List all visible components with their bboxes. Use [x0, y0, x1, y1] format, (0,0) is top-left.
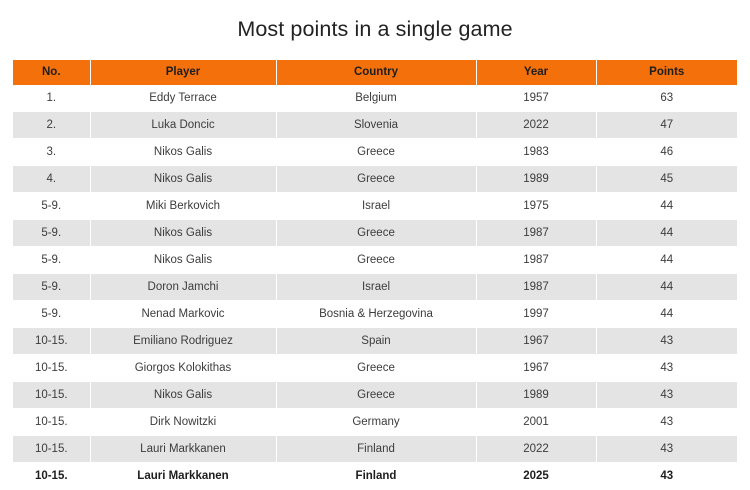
table-cell-country: Greece [276, 166, 476, 193]
table-cell-year: 1967 [476, 355, 596, 382]
table-cell-year: 2001 [476, 409, 596, 436]
table-row: 10-15.Lauri MarkkanenFinland202243 [13, 436, 737, 463]
table-cell-points: 43 [596, 382, 737, 409]
table-cell-points: 44 [596, 247, 737, 274]
table-cell-player: Emiliano Rodriguez [90, 328, 276, 355]
table-cell-year: 2022 [476, 436, 596, 463]
table-row: 4.Nikos GalisGreece198945 [13, 166, 737, 193]
column-header-year[interactable]: Year [476, 60, 596, 85]
table-cell-no: 10-15. [13, 409, 90, 436]
table-cell-country: Spain [276, 328, 476, 355]
table-cell-no: 10-15. [13, 382, 90, 409]
table-row: 5-9.Doron JamchiIsrael198744 [13, 274, 737, 301]
table-cell-player: Nikos Galis [90, 220, 276, 247]
table-cell-country: Germany [276, 409, 476, 436]
column-header-country[interactable]: Country [276, 60, 476, 85]
table-cell-player: Doron Jamchi [90, 274, 276, 301]
table-cell-no: 10-15. [13, 328, 90, 355]
column-header-no[interactable]: No. [13, 60, 90, 85]
table-cell-points: 43 [596, 409, 737, 436]
table-cell-no: 5-9. [13, 301, 90, 328]
table-header: No. Player Country Year Points [13, 60, 737, 85]
table-cell-year: 1967 [476, 328, 596, 355]
table-cell-points: 45 [596, 166, 737, 193]
table-cell-no: 5-9. [13, 220, 90, 247]
table-cell-country: Israel [276, 193, 476, 220]
table-cell-no: 1. [13, 85, 90, 112]
table-cell-year: 2025 [476, 463, 596, 490]
table-cell-year: 1989 [476, 166, 596, 193]
ranking-table: No. Player Country Year Points 1.Eddy Te… [13, 60, 737, 490]
table-row: 5-9.Nikos GalisGreece198744 [13, 220, 737, 247]
table-cell-year: 2022 [476, 112, 596, 139]
table-row: 5-9.Nenad MarkovicBosnia & Herzegovina19… [13, 301, 737, 328]
table-cell-no: 3. [13, 139, 90, 166]
table-cell-player: Nikos Galis [90, 139, 276, 166]
table-cell-points: 63 [596, 85, 737, 112]
table-cell-country: Greece [276, 382, 476, 409]
table-cell-year: 1989 [476, 382, 596, 409]
table-cell-country: Belgium [276, 85, 476, 112]
table-cell-player: Nikos Galis [90, 166, 276, 193]
table-cell-points: 44 [596, 274, 737, 301]
column-header-player[interactable]: Player [90, 60, 276, 85]
table-row: 5-9.Miki BerkovichIsrael197544 [13, 193, 737, 220]
table-cell-country: Finland [276, 436, 476, 463]
table-cell-no: 10-15. [13, 436, 90, 463]
table-cell-player: Eddy Terrace [90, 85, 276, 112]
table-cell-year: 1987 [476, 247, 596, 274]
table-row: 5-9.Nikos GalisGreece198744 [13, 247, 737, 274]
page-title: Most points in a single game [0, 0, 750, 44]
table-cell-player: Nikos Galis [90, 382, 276, 409]
table-cell-points: 43 [596, 328, 737, 355]
table-cell-player: Giorgos Kolokithas [90, 355, 276, 382]
table-row: 1.Eddy TerraceBelgium195763 [13, 85, 737, 112]
table-cell-country: Greece [276, 355, 476, 382]
table-row: 10-15.Lauri MarkkanenFinland202543 [13, 463, 737, 490]
table-row: 10-15.Emiliano RodriguezSpain196743 [13, 328, 737, 355]
table-cell-points: 44 [596, 220, 737, 247]
table-row: 2.Luka DoncicSlovenia202247 [13, 112, 737, 139]
ranking-table-container: No. Player Country Year Points 1.Eddy Te… [13, 60, 737, 490]
table-cell-no: 2. [13, 112, 90, 139]
table-cell-country: Finland [276, 463, 476, 490]
table-cell-player: Lauri Markkanen [90, 463, 276, 490]
table-cell-year: 1957 [476, 85, 596, 112]
table-cell-year: 1975 [476, 193, 596, 220]
table-cell-country: Greece [276, 220, 476, 247]
table-cell-no: 10-15. [13, 355, 90, 382]
table-cell-points: 44 [596, 301, 737, 328]
table-cell-player: Nenad Markovic [90, 301, 276, 328]
table-row: 10-15.Dirk NowitzkiGermany200143 [13, 409, 737, 436]
table-body: 1.Eddy TerraceBelgium1957632.Luka Doncic… [13, 85, 737, 490]
table-cell-country: Slovenia [276, 112, 476, 139]
page-root: Most points in a single game No. Player … [0, 0, 750, 484]
table-cell-year: 1997 [476, 301, 596, 328]
table-cell-points: 47 [596, 112, 737, 139]
table-cell-country: Greece [276, 139, 476, 166]
table-header-row: No. Player Country Year Points [13, 60, 737, 85]
table-cell-year: 1983 [476, 139, 596, 166]
table-cell-points: 43 [596, 463, 737, 490]
table-cell-player: Nikos Galis [90, 247, 276, 274]
table-cell-no: 10-15. [13, 463, 90, 490]
table-cell-points: 46 [596, 139, 737, 166]
table-cell-player: Miki Berkovich [90, 193, 276, 220]
table-cell-player: Lauri Markkanen [90, 436, 276, 463]
table-cell-points: 44 [596, 193, 737, 220]
table-cell-player: Luka Doncic [90, 112, 276, 139]
table-row: 10-15.Nikos GalisGreece198943 [13, 382, 737, 409]
table-cell-points: 43 [596, 436, 737, 463]
table-row: 10-15.Giorgos KolokithasGreece196743 [13, 355, 737, 382]
table-cell-country: Bosnia & Herzegovina [276, 301, 476, 328]
table-row: 3.Nikos GalisGreece198346 [13, 139, 737, 166]
table-cell-year: 1987 [476, 220, 596, 247]
table-cell-no: 5-9. [13, 247, 90, 274]
table-cell-no: 5-9. [13, 193, 90, 220]
table-cell-player: Dirk Nowitzki [90, 409, 276, 436]
table-cell-country: Israel [276, 274, 476, 301]
table-cell-points: 43 [596, 355, 737, 382]
table-cell-year: 1987 [476, 274, 596, 301]
column-header-points[interactable]: Points [596, 60, 737, 85]
table-cell-no: 5-9. [13, 274, 90, 301]
table-cell-no: 4. [13, 166, 90, 193]
table-cell-country: Greece [276, 247, 476, 274]
